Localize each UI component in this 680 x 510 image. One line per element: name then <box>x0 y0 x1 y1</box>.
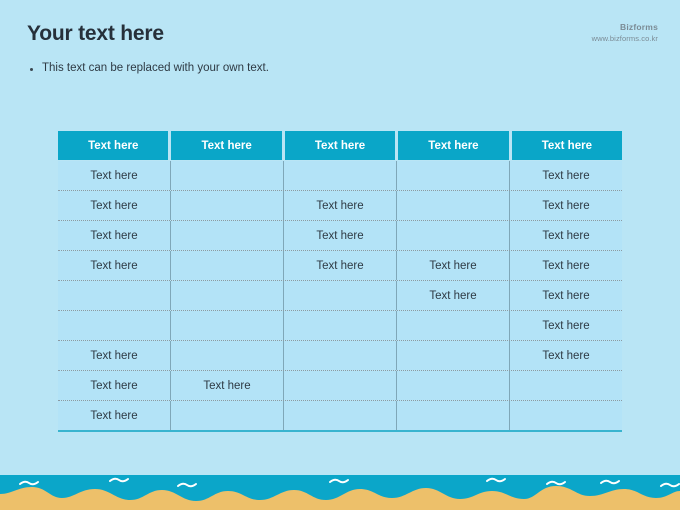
table-cell-r7-c4[interactable] <box>396 341 509 370</box>
table-cell-r2-c3[interactable]: Text here <box>283 191 396 220</box>
table-cell-r7-c2[interactable] <box>170 341 283 370</box>
table-row: Text hereText here <box>58 370 622 400</box>
bullet-item: This text can be replaced with your own … <box>30 61 269 76</box>
table-cell-r6-c5[interactable]: Text here <box>509 311 622 340</box>
table-cell-r5-c1[interactable] <box>58 281 170 310</box>
bullet-item-text: This text can be replaced with your own … <box>42 61 269 76</box>
table-row: Text hereText here <box>58 161 622 190</box>
table-cell-r2-c4[interactable] <box>396 191 509 220</box>
page-title: Your text here <box>27 22 164 46</box>
table-cell-r1-c2[interactable] <box>170 161 283 190</box>
table-row: Text hereText here <box>58 280 622 310</box>
table-cell-r4-c5[interactable]: Text here <box>509 251 622 280</box>
table-cell-r7-c3[interactable] <box>283 341 396 370</box>
table-cell-r8-c4[interactable] <box>396 371 509 400</box>
table-body: Text hereText hereText hereText hereText… <box>58 161 622 432</box>
table-cell-r3-c3[interactable]: Text here <box>283 221 396 250</box>
table-header-row: Text hereText hereText hereText hereText… <box>58 131 622 160</box>
table-header-cell-1[interactable]: Text here <box>58 131 168 160</box>
table-cell-r5-c4[interactable]: Text here <box>396 281 509 310</box>
table-row: Text hereText hereText here <box>58 220 622 250</box>
beach-shoreline-graphic <box>0 460 680 510</box>
table-cell-r3-c2[interactable] <box>170 221 283 250</box>
brand-block: Bizforms www.bizforms.co.kr <box>592 22 658 44</box>
table-cell-r1-c4[interactable] <box>396 161 509 190</box>
bullet-dot-icon <box>30 68 33 71</box>
table-cell-r4-c3[interactable]: Text here <box>283 251 396 280</box>
table-row: Text here <box>58 310 622 340</box>
table-header-cell-5[interactable]: Text here <box>512 131 622 160</box>
table-cell-r4-c1[interactable]: Text here <box>58 251 170 280</box>
table-cell-r6-c2[interactable] <box>170 311 283 340</box>
table-cell-r2-c1[interactable]: Text here <box>58 191 170 220</box>
brand-url[interactable]: www.bizforms.co.kr <box>592 33 658 44</box>
table-header-cell-3[interactable]: Text here <box>285 131 395 160</box>
sky-band <box>0 460 680 475</box>
table-row: Text hereText here <box>58 340 622 370</box>
table-cell-r7-c5[interactable]: Text here <box>509 341 622 370</box>
table-cell-r3-c1[interactable]: Text here <box>58 221 170 250</box>
table-cell-r8-c1[interactable]: Text here <box>58 371 170 400</box>
table-cell-r2-c5[interactable]: Text here <box>509 191 622 220</box>
table-cell-r7-c1[interactable]: Text here <box>58 341 170 370</box>
table-row: Text hereText hereText here <box>58 190 622 220</box>
table-cell-r5-c3[interactable] <box>283 281 396 310</box>
table-cell-r8-c5[interactable] <box>509 371 622 400</box>
table-cell-r9-c1[interactable]: Text here <box>58 401 170 430</box>
brand-name: Bizforms <box>592 22 658 33</box>
table-cell-r9-c2[interactable] <box>170 401 283 430</box>
table-header-cell-4[interactable]: Text here <box>398 131 508 160</box>
table-cell-r4-c4[interactable]: Text here <box>396 251 509 280</box>
table-cell-r3-c4[interactable] <box>396 221 509 250</box>
table-cell-r9-c4[interactable] <box>396 401 509 430</box>
table-cell-r5-c2[interactable] <box>170 281 283 310</box>
table-cell-r2-c2[interactable] <box>170 191 283 220</box>
table-cell-r5-c5[interactable]: Text here <box>509 281 622 310</box>
table-cell-r8-c3[interactable] <box>283 371 396 400</box>
table-header-cell-2[interactable]: Text here <box>171 131 281 160</box>
table-cell-r8-c2[interactable]: Text here <box>170 371 283 400</box>
table-cell-r9-c5[interactable] <box>509 401 622 430</box>
table-cell-r6-c1[interactable] <box>58 311 170 340</box>
table-cell-r9-c3[interactable] <box>283 401 396 430</box>
content-table: Text hereText hereText hereText hereText… <box>58 131 622 432</box>
table-cell-r3-c5[interactable]: Text here <box>509 221 622 250</box>
table-cell-r1-c5[interactable]: Text here <box>509 161 622 190</box>
table-cell-r1-c3[interactable] <box>283 161 396 190</box>
table-cell-r4-c2[interactable] <box>170 251 283 280</box>
table-cell-r6-c3[interactable] <box>283 311 396 340</box>
table-row: Text here <box>58 400 622 430</box>
table-cell-r6-c4[interactable] <box>396 311 509 340</box>
table-cell-r1-c1[interactable]: Text here <box>58 161 170 190</box>
table-row: Text hereText hereText hereText here <box>58 250 622 280</box>
